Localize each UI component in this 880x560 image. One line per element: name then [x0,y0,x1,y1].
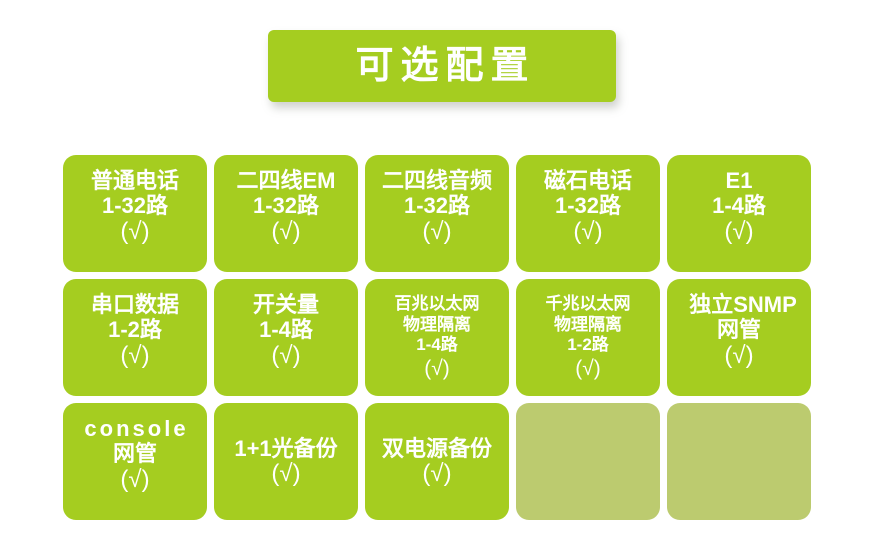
title-banner-area: 可选配置 [0,0,880,140]
option-check-mark: (√) [424,358,450,379]
option-check-mark: (√) [724,344,753,368]
option-check-mark: (√) [120,220,149,244]
option-card-line: console [81,417,188,442]
option-check-mark: (√) [271,462,300,486]
option-card[interactable]: 串口数据1-2路(√) [63,279,207,396]
option-card-line: 百兆以太网 [395,294,480,315]
option-card[interactable]: E11-4路(√) [667,155,811,272]
option-card-line: 1-2路 [108,318,162,343]
option-card-row: 串口数据1-2路(√)开关量1-4路(√)百兆以太网物理隔离1-4路(√)千兆以… [63,279,818,396]
option-check-mark: (√) [724,220,753,244]
option-card[interactable]: 二四线EM1-32路(√) [214,155,358,272]
option-card-line: 双电源备份 [382,437,492,462]
option-card-placeholder [667,403,811,520]
option-check-mark: (√) [271,344,300,368]
option-card-row: 普通电话1-32路(√)二四线EM1-32路(√)二四线音频1-32路(√)磁石… [63,155,818,272]
option-check-mark: (√) [422,220,451,244]
option-card[interactable]: console网管(√) [63,403,207,520]
option-card-line: 开关量 [253,293,319,318]
option-card-line: 1-32路 [404,194,470,219]
option-card[interactable]: 独立SNMP网管(√) [667,279,811,396]
option-card-placeholder [516,403,660,520]
option-card-line: 二四线音频 [382,169,492,194]
option-card-line: 二四线EM [236,169,335,194]
option-card[interactable]: 开关量1-4路(√) [214,279,358,396]
option-card-line: 独立SNMP [689,293,797,318]
option-card-line: 1-4路 [416,335,458,356]
option-card[interactable]: 双电源备份(√) [365,403,509,520]
option-card-line: 1+1光备份 [234,437,337,462]
option-card-line: 1-32路 [102,194,168,219]
option-check-mark: (√) [120,344,149,368]
option-check-mark: (√) [271,220,300,244]
option-check-mark: (√) [573,220,602,244]
option-card-line: 1-4路 [259,318,313,343]
option-card-line: 物理隔离 [554,315,622,336]
option-card-line: 1-4路 [712,194,766,219]
option-check-mark: (√) [422,462,451,486]
page-title: 可选配置 [348,47,535,85]
option-card-line: 网管 [113,442,157,467]
option-card-line: 磁石电话 [544,169,632,194]
option-card-line: 物理隔离 [403,315,471,336]
option-card-line: 千兆以太网 [546,294,631,315]
option-card-line: 网管 [717,318,761,343]
option-card-line: 普通电话 [91,169,179,194]
option-check-mark: (√) [575,358,601,379]
option-card-line: 1-2路 [567,335,609,356]
option-card-line: 1-32路 [253,194,319,219]
option-card-line: 串口数据 [91,293,179,318]
option-card[interactable]: 1+1光备份(√) [214,403,358,520]
option-card[interactable]: 普通电话1-32路(√) [63,155,207,272]
option-card-row: console网管(√)1+1光备份(√)双电源备份(√) [63,403,818,520]
option-card-grid: 普通电话1-32路(√)二四线EM1-32路(√)二四线音频1-32路(√)磁石… [63,155,818,520]
option-card[interactable]: 百兆以太网物理隔离1-4路(√) [365,279,509,396]
option-card-line: 1-32路 [555,194,621,219]
option-card[interactable]: 千兆以太网物理隔离1-2路(√) [516,279,660,396]
option-card-line: E1 [726,169,753,194]
option-card[interactable]: 二四线音频1-32路(√) [365,155,509,272]
option-check-mark: (√) [120,468,149,492]
option-card[interactable]: 磁石电话1-32路(√) [516,155,660,272]
title-banner: 可选配置 [268,30,616,102]
